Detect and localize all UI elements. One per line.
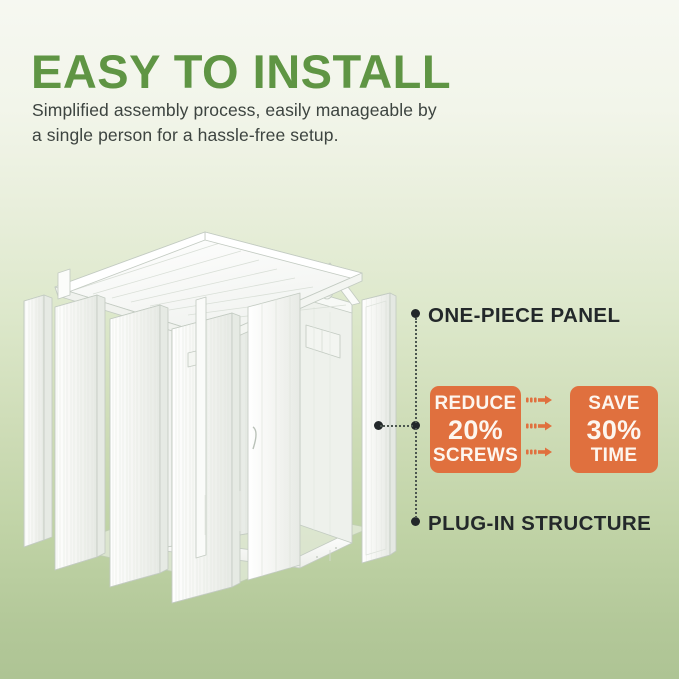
badge-right-line-2: 30% [587, 415, 642, 445]
subtitle-line-1: Simplified assembly process, easily mana… [32, 98, 502, 123]
detachable-wall-panel [24, 295, 52, 547]
badge-right-line-1: SAVE [588, 393, 640, 415]
badge-left-line-3: SCREWS [433, 445, 518, 467]
leader-dot-top [411, 309, 420, 318]
leader-line-lower [415, 428, 417, 518]
badge-save-time: SAVE 30% TIME [570, 386, 658, 473]
page-title: EASY TO INSTALL [31, 44, 451, 99]
page-subtitle: Simplified assembly process, easily mana… [32, 98, 502, 148]
badge-left-line-1: REDUCE [434, 393, 516, 415]
transition-arrows-icon [526, 392, 568, 468]
detachable-wall-panel [55, 295, 105, 570]
leader-dot-bottom [411, 517, 420, 526]
badge-reduce-screws: REDUCE 20% SCREWS [430, 386, 521, 473]
leader-line-horizontal [380, 425, 413, 427]
promo-banner: EASY TO INSTALL Simplified assembly proc… [0, 0, 679, 679]
badge-left-line-2: 20% [448, 415, 503, 445]
callout-one-piece-panel: ONE-PIECE PANEL [428, 304, 620, 328]
badge-right-line-3: TIME [591, 445, 638, 467]
callout-plug-in-structure: PLUG-IN STRUCTURE [428, 512, 651, 536]
leader-line-upper [415, 318, 417, 423]
subtitle-line-2: a single person for a hassle-free setup. [32, 123, 502, 148]
exploded-shed-illustration [0, 195, 420, 615]
shed-door-panel [248, 293, 300, 580]
detachable-wall-panel [110, 305, 168, 587]
